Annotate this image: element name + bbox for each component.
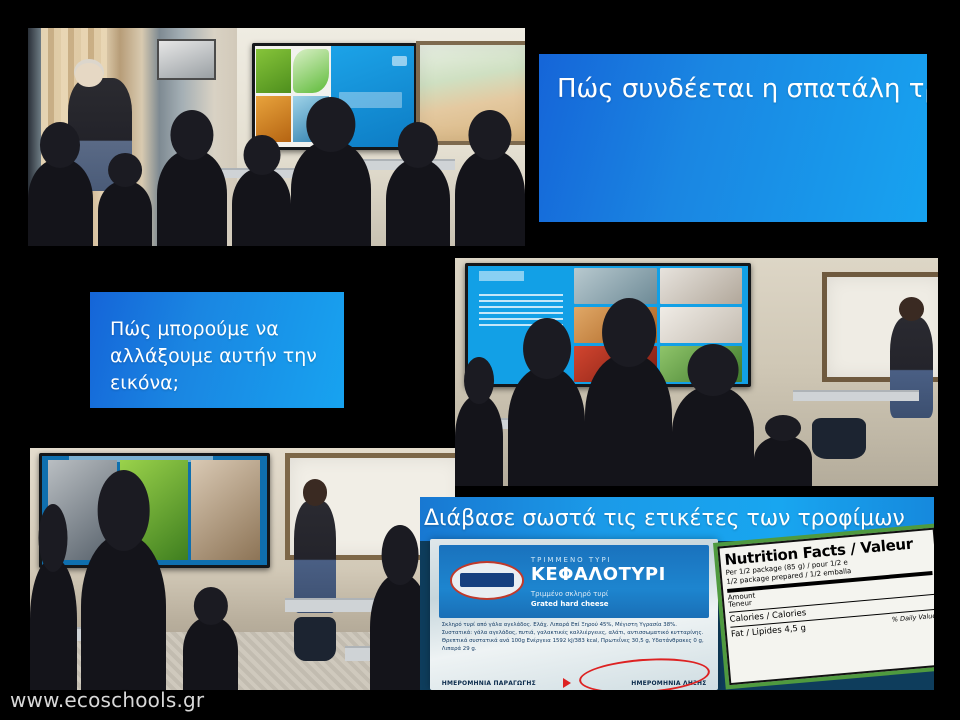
desk	[793, 390, 919, 401]
package-ingredients: Σκληρό τυρί από γάλα αγελάδος. Ελάχ. Λιπ…	[442, 621, 707, 666]
student-figure	[386, 159, 451, 246]
teacher-head	[75, 63, 102, 87]
wall-poster	[157, 39, 216, 80]
expiry-date-label: ΗΜΕΡΟΜΗΝΙΑ ΛΗΞΗΣ	[631, 680, 706, 687]
package-subtitle-english: Grated hard cheese	[531, 600, 609, 608]
photo-classroom-recycling	[30, 448, 455, 690]
classroom-scene	[28, 28, 525, 246]
presenter-figure	[294, 501, 337, 612]
slide-canvas: Πώς συνδέεται η σπατάλη τροφίμων με την …	[0, 0, 960, 720]
presentation-screen	[39, 453, 270, 568]
student-figure	[672, 386, 754, 486]
student-figure	[30, 559, 77, 690]
package-subtitle-greek: Τριμμένο σκληρό τυρί	[531, 590, 608, 598]
student-figure	[232, 168, 292, 246]
caption-food-waste-lifestyle-text: Πώς συνδέεται η σπατάλη τροφίμων με την …	[557, 72, 917, 107]
food-photo	[574, 268, 657, 304]
caption-food-waste-lifestyle: Πώς συνδέεται η σπατάλη τροφίμων με την …	[539, 54, 927, 222]
student-figure	[508, 367, 585, 486]
cheese-package: ΤΡΙΜΜΕΝΟ ΤΥΡΙ ΚΕΦΑΛΟΤΥΡΙ Τριμμένο σκληρό…	[430, 539, 718, 690]
backpack	[294, 617, 337, 661]
caption-change-image-text: Πώς μπορούμε να αλλάξουμε αυτήν την εικό…	[110, 316, 334, 397]
package-title: ΚΕΦΑΛΟΤΥΡΙ	[531, 564, 666, 585]
brand-logo	[450, 561, 524, 600]
nutrition-daily-value-label: % Daily Value	[891, 612, 934, 626]
slide-image-tile	[256, 49, 291, 93]
student-figure	[291, 141, 371, 246]
red-arrow-annotation	[563, 678, 571, 688]
student-figure	[81, 535, 166, 690]
student-figure	[98, 181, 153, 246]
desk	[285, 598, 379, 612]
food-photo	[660, 307, 743, 343]
nutrition-facts-panel: Nutrition Facts / Valeur Per 1/2 package…	[713, 524, 934, 690]
student-figure	[183, 617, 238, 690]
classroom-scene	[30, 448, 455, 690]
slide-image-tile	[293, 49, 330, 93]
classroom-scene	[455, 258, 938, 486]
slide-logo	[392, 56, 407, 66]
caption-change-image: Πώς μπορούμε να αλλάξουμε αυτήν την εικό…	[90, 292, 344, 408]
student-figure	[455, 395, 503, 486]
package-date-labels: ΗΜΕΡΟΜΗΝΙΑ ΠΑΡΑΓΩΓΗΣ ΗΜΕΡΟΜΗΝΙΑ ΛΗΞΗΣ	[442, 680, 707, 687]
food-label-banner-text: Διάβασε σωστά τις ετικέτες των τροφίμων	[420, 508, 905, 530]
student-figure	[28, 159, 93, 246]
presenter-figure	[890, 317, 933, 417]
student-figure	[754, 436, 812, 486]
photo-classroom-food-slide	[455, 258, 938, 486]
photo-classroom-presentation	[28, 28, 525, 246]
slide-logo	[479, 271, 524, 280]
student-figure	[157, 150, 227, 246]
package-kicker: ΤΡΙΜΜΕΝΟ ΤΥΡΙ	[531, 556, 612, 564]
package-header-panel: ΤΡΙΜΜΕΝΟ ΤΥΡΙ ΚΕΦΑΛΟΤΥΡΙ Τριμμένο σκληρό…	[439, 545, 710, 617]
food-label-scene: Διάβασε σωστά τις ετικέτες των τροφίμων …	[420, 497, 934, 690]
production-date-label: ΗΜΕΡΟΜΗΝΙΑ ΠΑΡΑΓΩΓΗΣ	[442, 680, 536, 687]
recycling-photo	[191, 460, 260, 560]
student-figure	[455, 150, 525, 246]
recycling-photo-collage	[48, 460, 260, 560]
photo-food-label: Διάβασε σωστά τις ετικέτες των τροφίμων …	[420, 497, 934, 690]
site-footer-url: www.ecoschools.gr	[10, 688, 204, 712]
backpack	[812, 418, 865, 459]
food-photo	[660, 268, 743, 304]
student-figure	[585, 354, 672, 486]
